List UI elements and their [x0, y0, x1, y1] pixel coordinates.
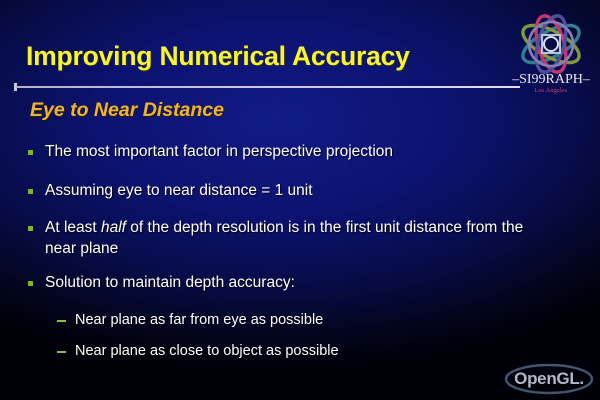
list-item: The most important factor in perspective…: [28, 141, 528, 162]
list-item: Near plane as far from eye as possible: [57, 310, 527, 331]
bullet-text: Near plane as close to object as possibl…: [75, 341, 339, 362]
bullet-text: The most important factor in perspective…: [45, 141, 393, 162]
bullet-text: Near plane as far from eye as possible: [75, 310, 323, 331]
bullet-square-icon: [28, 150, 33, 155]
list-item: Solution to maintain depth accuracy:: [28, 272, 528, 293]
bullet-text: Assuming eye to near distance = 1 unit: [45, 180, 313, 201]
opengl-wordmark: OpenGL.: [503, 362, 595, 396]
bullet-text-before: At least: [45, 219, 101, 236]
bullet-dash-icon: [57, 351, 66, 353]
bullet-dash-icon: [57, 320, 66, 322]
bullet-square-icon: [28, 281, 33, 286]
bullet-square-icon: [28, 226, 33, 231]
list-item: Assuming eye to near distance = 1 unit: [28, 180, 528, 201]
bullet-text-emphasis: half: [101, 219, 126, 236]
list-item: Near plane as close to object as possibl…: [57, 341, 527, 362]
bullet-square-icon: [28, 189, 33, 194]
slide-body: The most important factor in perspective…: [0, 0, 600, 400]
list-item: At least half of the depth resolution is…: [28, 217, 533, 259]
opengl-logo: OpenGL.: [503, 362, 595, 396]
presentation-slide: Improving Numerical Accuracy –SI99RAPH– …: [0, 0, 600, 400]
bullet-text: Solution to maintain depth accuracy:: [45, 272, 295, 293]
bullet-text: At least half of the depth resolution is…: [45, 217, 533, 259]
